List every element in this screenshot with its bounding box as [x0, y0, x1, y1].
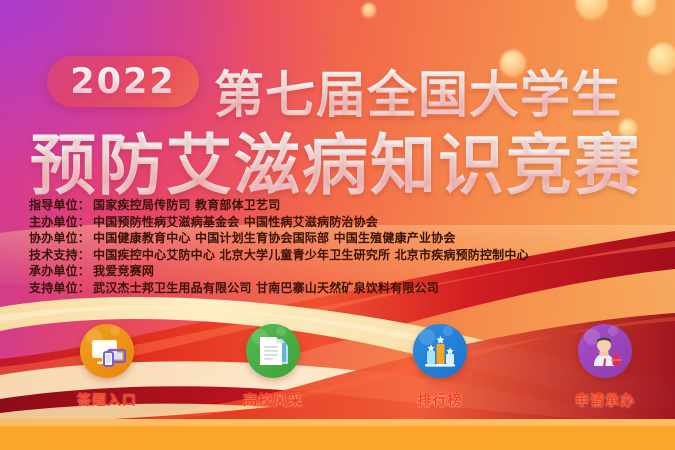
organizer-info-value: 中国疾控中心艾防中心 北京大学儿童青少年卫生研究所 北京市疾病预防控制中心 — [93, 248, 529, 262]
nav-item-4[interactable]: 申请承办 — [545, 324, 665, 410]
bottom-bar — [0, 419, 675, 450]
organizer-info-row: 指导单位：国家疾控局传防司 教育部体卫艺司 — [29, 197, 529, 214]
organizer-info-value: 我爱竞赛网 — [93, 264, 154, 278]
organizer-info-key: 支持单位： — [29, 281, 90, 295]
person-ribbon-icon[interactable] — [578, 324, 632, 378]
organizer-info-value: 武汉杰士邦卫生用品有限公司 甘南巴寨山天然矿泉饮料有限公司 — [93, 281, 439, 295]
bar-chart-icon[interactable] — [413, 324, 467, 378]
document-chart-icon[interactable] — [246, 324, 300, 378]
organizer-info-key: 协办单位： — [29, 231, 90, 245]
bokeh-circle — [576, 0, 608, 20]
organizer-info-value: 国家疾控局传防司 教育部体卫艺司 — [93, 198, 280, 212]
organizer-info-key: 主办单位： — [29, 215, 90, 229]
bokeh-circle — [648, 43, 675, 75]
organizer-info-row: 协办单位：中国健康教育中心 中国计划生育协会国际部 中国生殖健康产业协会 — [29, 230, 529, 247]
year-badge-text: 2022 — [47, 56, 199, 107]
headline-line-2: 预防艾滋病知识竞赛 — [30, 112, 642, 208]
organizer-info-row: 技术支持：中国疾控中心艾防中心 北京大学儿童青少年卫生研究所 北京市疾病预防控制… — [29, 247, 529, 264]
organizer-info-row: 主办单位：中国预防性病艾滋病基金会 中国性病艾滋病防治协会 — [29, 214, 529, 231]
nav-item-label: 高校风采 — [213, 390, 333, 410]
bokeh-circle — [362, 3, 376, 18]
nav-item-label: 排行榜 — [380, 390, 500, 410]
screen-devices-icon[interactable] — [80, 324, 134, 378]
year-badge: 2022 — [47, 56, 199, 107]
organizer-info-row: 支持单位：武汉杰士邦卫生用品有限公司 甘南巴寨山天然矿泉饮料有限公司 — [29, 280, 529, 297]
poster-banner: 2022 第七届全国大学生 预防艾滋病知识竞赛 指导单位：国家疾控局传防司 教育… — [0, 0, 675, 450]
organizer-info-value: 中国预防性病艾滋病基金会 中国性病艾滋病防治协会 — [93, 215, 378, 229]
nav-item-label: 答题入口 — [47, 390, 167, 410]
bottom-bar-highlight — [0, 419, 675, 426]
nav-item-2[interactable]: 高校风采 — [213, 324, 333, 410]
bokeh-circle — [632, 0, 656, 17]
organizer-info-value: 中国健康教育中心 中国计划生育协会国际部 中国生殖健康产业协会 — [93, 231, 456, 245]
organizer-info-row: 承办单位：我爱竞赛网 — [29, 263, 529, 280]
organizer-info-key: 技术支持： — [29, 248, 90, 262]
nav-item-3[interactable]: 排行榜 — [380, 324, 500, 410]
nav-item-1[interactable]: 答题入口 — [47, 324, 167, 410]
nav-item-label: 申请承办 — [545, 390, 665, 410]
organizer-info-key: 承办单位： — [29, 264, 90, 278]
organizer-info-key: 指导单位： — [29, 198, 90, 212]
organizer-info-block: 指导单位：国家疾控局传防司 教育部体卫艺司主办单位：中国预防性病艾滋病基金会 中… — [29, 197, 529, 296]
